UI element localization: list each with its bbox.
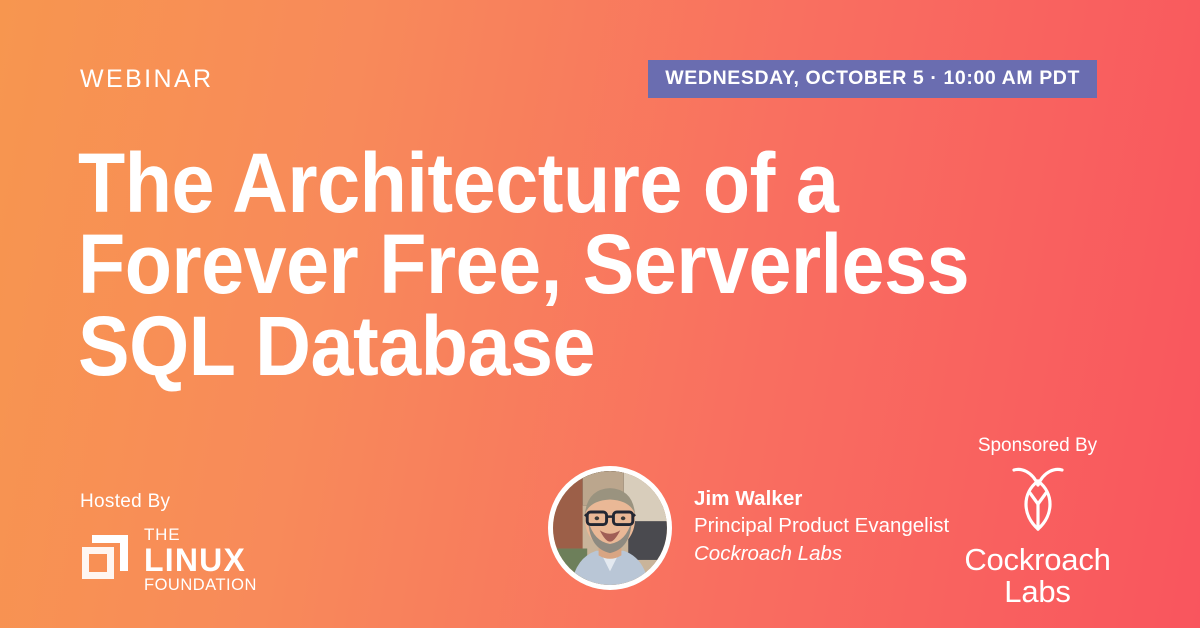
speaker-photo — [553, 471, 667, 585]
cockroach-labs-mark-icon — [950, 463, 1125, 542]
speaker-name: Jim Walker — [694, 485, 949, 512]
avatar — [548, 466, 672, 590]
cl-line-2: Labs — [950, 576, 1125, 608]
linux-foundation-logo: THE LINUX FOUNDATION — [80, 526, 380, 594]
sponsor-block: Sponsored By Cockroach Labs — [950, 435, 1125, 608]
cockroach-labs-wordmark: Cockroach Labs — [950, 544, 1125, 608]
eyebrow-label: WEBINAR — [80, 67, 213, 92]
lf-linux-text: LINUX — [144, 544, 257, 576]
speaker-company: Cockroach Labs — [694, 540, 949, 567]
sponsored-by-label: Sponsored By — [950, 435, 1125, 457]
hosted-by-label: Hosted By — [80, 491, 380, 513]
hosted-by-block: Hosted By THE LINUX FOUNDATION — [80, 491, 380, 594]
footer-band: Hosted By THE LINUX FOUNDATION — [0, 448, 1200, 628]
date-badge: WEDNESDAY, OCTOBER 5 · 10:00 AM PDT — [648, 60, 1097, 99]
headline-line-1: The Architecture of a — [78, 143, 998, 224]
cl-line-1: Cockroach — [950, 544, 1125, 576]
headline-line-2: Forever Free, Serverless — [78, 224, 998, 305]
lf-foundation-text: FOUNDATION — [144, 577, 257, 594]
lf-the-text: THE — [144, 526, 257, 543]
page-title: The Architecture of a Forever Free, Serv… — [78, 143, 998, 387]
speaker-title: Principal Product Evangelist — [694, 512, 949, 539]
header-row: WEBINAR WEDNESDAY, OCTOBER 5 · 10:00 AM … — [80, 58, 1097, 100]
linux-foundation-wordmark: THE LINUX FOUNDATION — [144, 526, 257, 594]
headline-line-3: SQL Database — [78, 306, 998, 387]
speaker-block: Jim Walker Principal Product Evangelist … — [548, 466, 949, 590]
linux-foundation-mark-icon — [80, 531, 132, 588]
speaker-details: Jim Walker Principal Product Evangelist … — [694, 485, 949, 570]
